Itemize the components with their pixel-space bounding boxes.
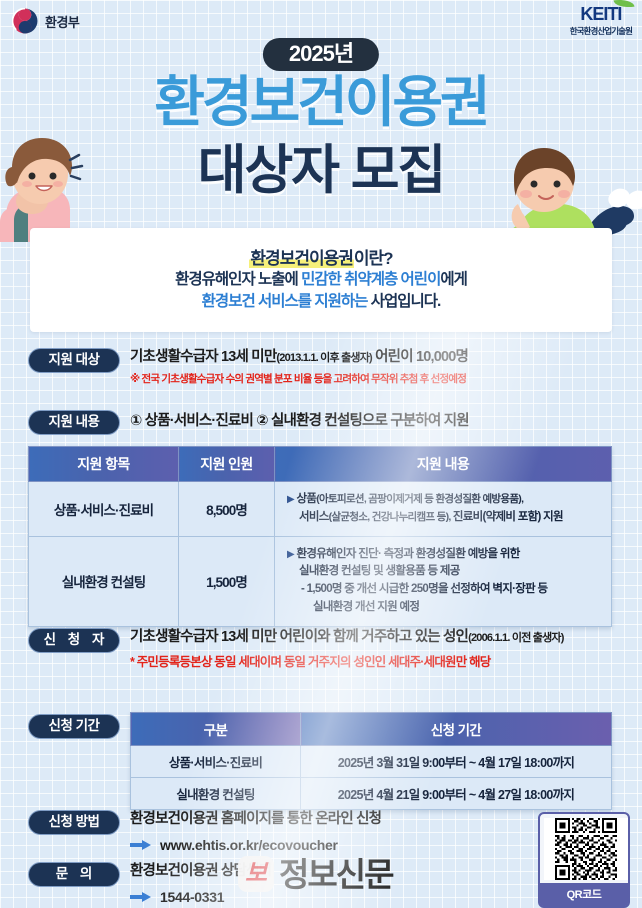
desc-line: 실내환경 개선 지원 예정 <box>287 599 603 617</box>
support-content-text: ① 상품·서비스·진료비 ② 실내환경 컨설팅으로 구분하여 지원 <box>130 412 469 432</box>
support-target-text: 기초생활수급자 13세 미만(2013.1.1. 이후 출생자) 어린이 10,… <box>130 348 468 368</box>
agency-abbr: KEITI <box>570 5 632 23</box>
cell-period: 2025년 4월 21일 9:00부터 ~ 4월 27일 18:00까지 <box>301 778 612 810</box>
watermark-glyph: 보 <box>245 862 267 886</box>
badge-support-content: 지원 내용 <box>28 410 120 435</box>
arrow-right-icon <box>130 891 152 903</box>
col-item: 지원 항목 <box>29 447 179 482</box>
definition-panel: 환경보건이용권이란? 환경유해인자 노출에 민감한 취약계층 어린이에게 환경보… <box>30 228 612 332</box>
definition-heading-rest: 이란? <box>354 249 393 268</box>
agency-logo: KEITI 한국환경산업기술원 <box>570 5 632 37</box>
year-badge: 2025년 <box>263 38 379 71</box>
definition-line-1: 환경유해인자 노출에 민감한 취약계층 어린이에게 <box>30 269 612 291</box>
qr-code-label: QR코드 <box>540 883 628 906</box>
website-link-row[interactable]: www.ehtis.or.kr/ecovoucher <box>130 837 381 853</box>
table-header-row: 구분 신청 기간 <box>131 713 612 746</box>
inquiry-phone[interactable]: 1544-0331 <box>160 889 224 905</box>
applicant-note: * 주민등록등본상 동일 세대이며 동일 거주지의 성인인 세대주·세대원만 해… <box>130 651 564 670</box>
table-row: 실내환경 컨설팅 2025년 4월 21일 9:00부터 ~ 4월 27일 18… <box>131 778 612 810</box>
poster-title-line1: 환경보건이용권 <box>0 74 642 132</box>
cell-desc: ▶ 상품(아토피로션, 곰팡이제거제 등 환경성질환 예방용품), 서비스(살균… <box>275 482 612 537</box>
qr-code-block[interactable]: QR코드 <box>538 812 630 908</box>
col-category: 구분 <box>131 713 301 746</box>
badge-inquiry: 문 의 <box>28 862 120 887</box>
bullet-arrow-icon: ▶ <box>287 494 294 505</box>
applicant-text: 기초생활수급자 13세 미만 어린이와 함께 거주하고 있는 성인(2006.1… <box>130 628 564 648</box>
watermark: 보 정보신문 <box>238 856 392 892</box>
agency-name: 한국환경산업기술원 <box>570 25 632 37</box>
col-count: 지원 인원 <box>179 447 275 482</box>
taegeuk-icon <box>12 8 38 34</box>
cell-count: 1,500명 <box>179 536 275 626</box>
section-applicant: 신 청 자 기초생활수급자 13세 미만 어린이와 함께 거주하고 있는 성인(… <box>28 628 642 670</box>
girl-illustration <box>0 124 92 242</box>
badge-applicant: 신 청 자 <box>28 628 120 653</box>
section-method: 신청 방법 환경보건이용권 홈페이지를 통한 온라인 신청 www.ehtis.… <box>28 810 381 853</box>
desc-line: ▶ 환경유해인자 진단· 측정과 환경성질환 예방을 위한 <box>287 546 603 564</box>
support-target-note: ※ 전국 기초생활수급자 수의 권역별 분포 비율 등을 고려하여 무작위 추첨… <box>130 371 468 386</box>
method-text: 환경보건이용권 홈페이지를 통한 온라인 신청 <box>130 810 381 830</box>
table-row: 상품·서비스·진료비 8,500명 ▶ 상품(아토피로션, 곰팡이제거제 등 환… <box>29 482 612 537</box>
arrow-right-icon <box>130 839 152 851</box>
col-desc: 지원 내용 <box>275 447 612 482</box>
section-inquiry: 문 의 환경보건이용권 상담센터 1544-0331 <box>28 862 271 905</box>
cell-category: 실내환경 컨설팅 <box>131 778 301 810</box>
desc-line: ▶ 상품(아토피로션, 곰팡이제거제 등 환경성질환 예방용품), <box>287 491 603 509</box>
cell-item: 상품·서비스·진료비 <box>29 482 179 537</box>
section-support-content: 지원 내용 ① 상품·서비스·진료비 ② 실내환경 컨설팅으로 구분하여 지원 <box>28 410 628 435</box>
badge-period: 신청 기간 <box>28 714 120 739</box>
table-header-row: 지원 항목 지원 인원 지원 내용 <box>29 447 612 482</box>
watermark-logo-icon: 보 <box>238 856 274 892</box>
cell-desc: ▶ 환경유해인자 진단· 측정과 환경성질환 예방을 위한 실내환경 컨설팅 및… <box>275 536 612 626</box>
cell-period: 2025년 3월 31일 9:00부터 ~ 4월 17일 18:00까지 <box>301 746 612 778</box>
qr-code-icon <box>544 818 628 880</box>
table-row: 실내환경 컨설팅 1,500명 ▶ 환경유해인자 진단· 측정과 환경성질환 예… <box>29 536 612 626</box>
cell-count: 8,500명 <box>179 482 275 537</box>
watermark-text: 정보신문 <box>279 858 392 891</box>
desc-line: - 1,500명 중 개선 시급한 250명을 선정하여 벽지·장판 등 <box>287 581 603 599</box>
section-period: 신청 기간 <box>28 714 120 739</box>
poster-canvas: 환경부 KEITI 한국환경산업기술원 2025년 환경보건이용권 대상자 모집 <box>0 0 642 908</box>
definition-line-2: 환경보건 서비스를 지원하는 사업입니다. <box>30 291 612 313</box>
ministry-logo: 환경부 <box>12 8 79 34</box>
definition-heading: 환경보건이용권이란? <box>30 244 612 269</box>
ministry-name: 환경부 <box>45 12 79 31</box>
desc-line: 서비스(살균청소, 건강나누리캠프 등), 진료비(약제비 포함) 지원 <box>287 509 603 527</box>
cell-category: 상품·서비스·진료비 <box>131 746 301 778</box>
badge-support-target: 지원 대상 <box>28 348 120 373</box>
cell-item: 실내환경 컨설팅 <box>29 536 179 626</box>
badge-method: 신청 방법 <box>28 810 120 835</box>
website-url[interactable]: www.ehtis.or.kr/ecovoucher <box>160 837 338 853</box>
period-table: 구분 신청 기간 상품·서비스·진료비 2025년 3월 31일 9:00부터 … <box>130 712 612 810</box>
definition-heading-highlight: 환경보건이용권 <box>249 249 353 268</box>
col-period: 신청 기간 <box>301 713 612 746</box>
support-table: 지원 항목 지원 인원 지원 내용 상품·서비스·진료비 8,500명 ▶ 상품… <box>28 446 612 627</box>
bullet-arrow-icon: ▶ <box>287 549 294 560</box>
desc-line: 실내환경 컨설팅 및 생활용품 등 제공 <box>287 563 603 581</box>
section-target: 지원 대상 기초생활수급자 13세 미만(2013.1.1. 이후 출생자) 어… <box>28 348 628 386</box>
table-row: 상품·서비스·진료비 2025년 3월 31일 9:00부터 ~ 4월 17일 … <box>131 746 612 778</box>
